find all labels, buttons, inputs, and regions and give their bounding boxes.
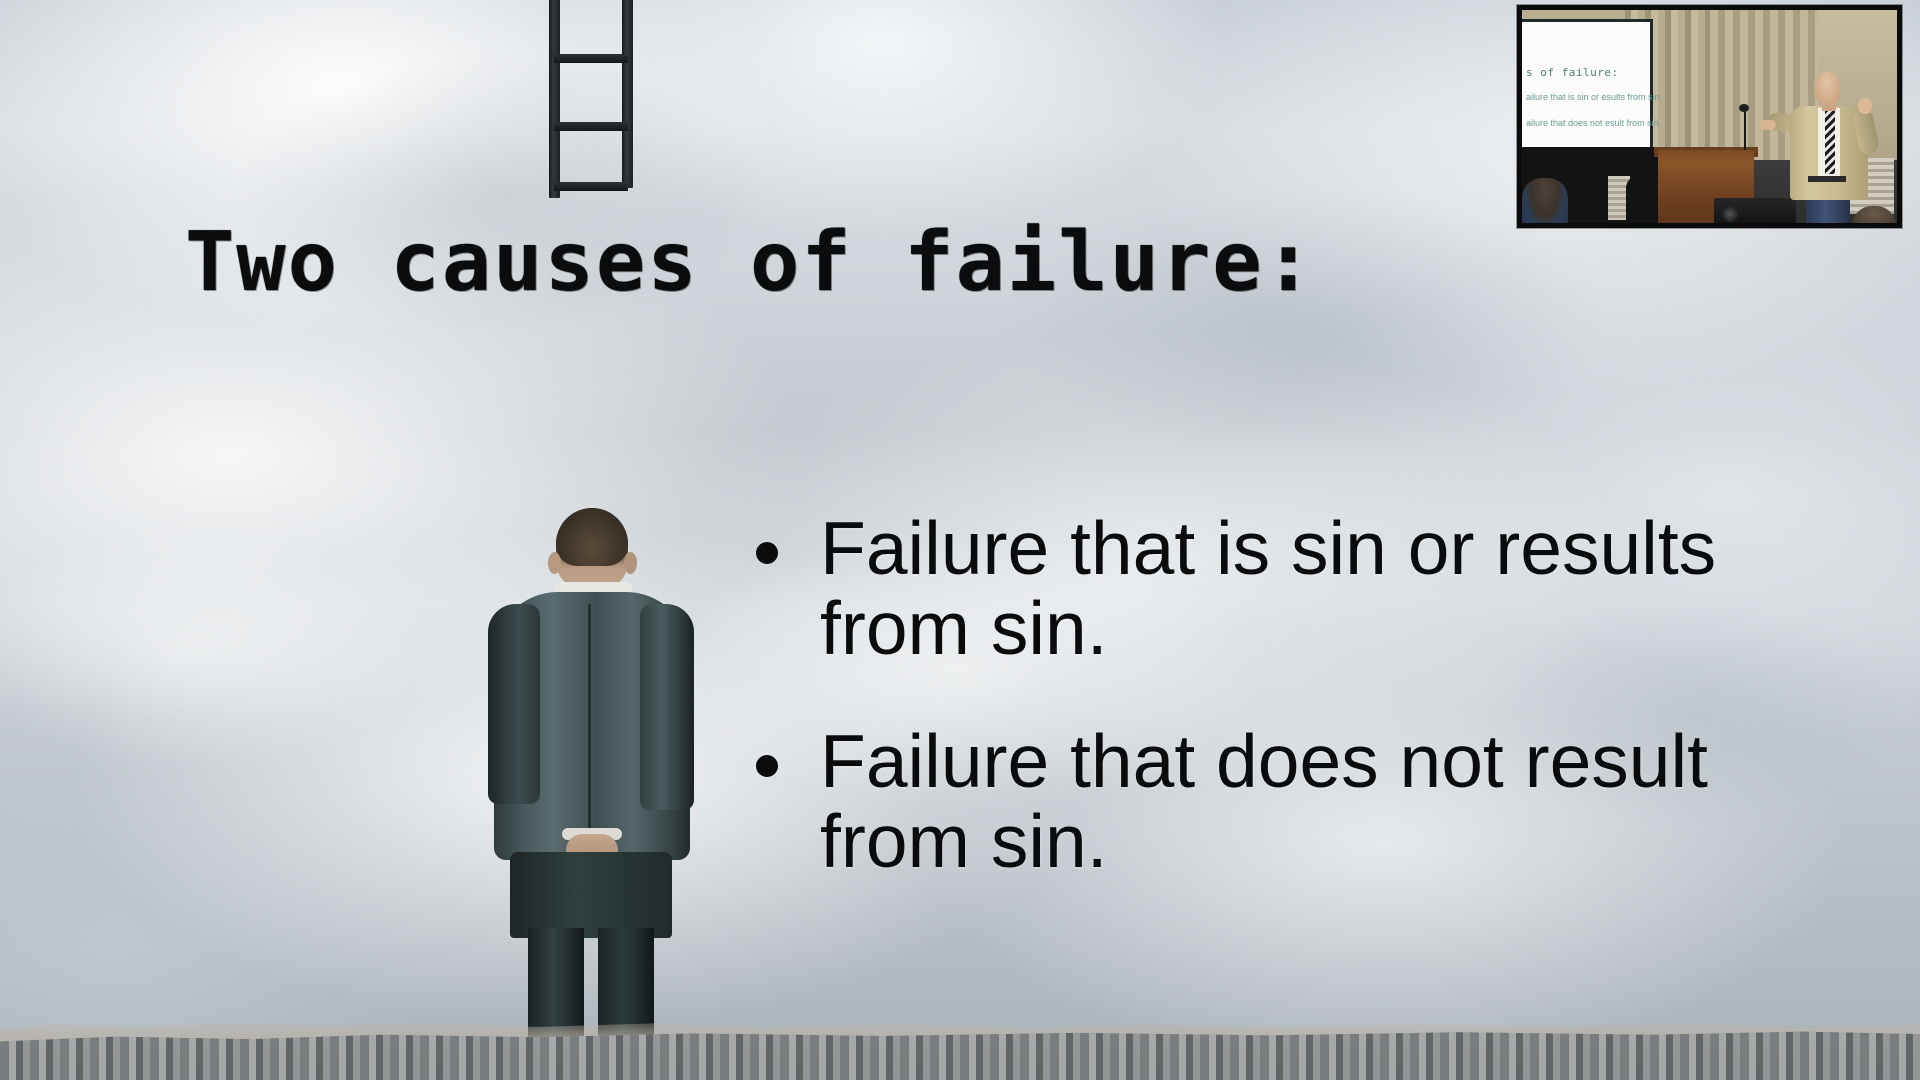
bullet-dot-icon (756, 755, 778, 777)
ladder-rail-left (549, 0, 560, 198)
man-hair (556, 508, 628, 566)
microphone-icon (1739, 104, 1749, 112)
slide-title: Two causes of failure: (0, 222, 1500, 304)
list-item: Failure that does not result from sin. (738, 721, 1818, 882)
ladder-rail-right (622, 0, 633, 188)
man-jacket-seam (588, 604, 591, 854)
projected-slide-title: s of failure: (1526, 66, 1619, 79)
projected-slide-bullet: ailure that is sin or esults from sin. (1526, 92, 1662, 103)
speaker-hand-right (1858, 98, 1872, 114)
man-trousers-hip (510, 852, 672, 938)
projection-screen: s of failure: ailure that is sin or esul… (1522, 19, 1653, 150)
ladder-graphic (549, 0, 633, 198)
slide-bullet-list: Failure that is sin or results from sin.… (738, 508, 1818, 933)
man-ear-left (548, 552, 561, 574)
man-in-suit-illustration (488, 508, 694, 1080)
bullet-dot-icon (756, 542, 778, 564)
presentation-slide: Two causes of failure: Failure that is s… (0, 0, 1920, 1080)
man-ear-right (624, 552, 637, 574)
list-item: Failure that is sin or results from sin. (738, 508, 1818, 669)
speaker-belt (1808, 176, 1846, 182)
chair (1626, 176, 1660, 228)
bullet-text: Failure that does not result from sin. (820, 721, 1818, 882)
speaker-tie (1825, 110, 1835, 174)
projector-lens (1722, 206, 1738, 222)
bullet-text: Failure that is sin or results from sin. (820, 508, 1818, 669)
ladder-rung (554, 122, 628, 131)
microphone-stand (1744, 108, 1746, 150)
speaker-hand-left (1760, 120, 1776, 130)
speaker-video-overlay[interactable]: s of failure: ailure that is sin or esul… (1517, 5, 1902, 228)
man-sleeve-left (488, 604, 540, 804)
video-frame: s of failure: ailure that is sin or esul… (1522, 10, 1897, 223)
projected-slide-bullet: ailure that does not esult from sin. (1526, 118, 1661, 129)
man-sleeve-right (640, 604, 694, 810)
ladder-rung (554, 182, 628, 191)
ladder-rung (554, 54, 628, 63)
speaker-head (1814, 72, 1840, 104)
audience-member (1522, 178, 1568, 228)
